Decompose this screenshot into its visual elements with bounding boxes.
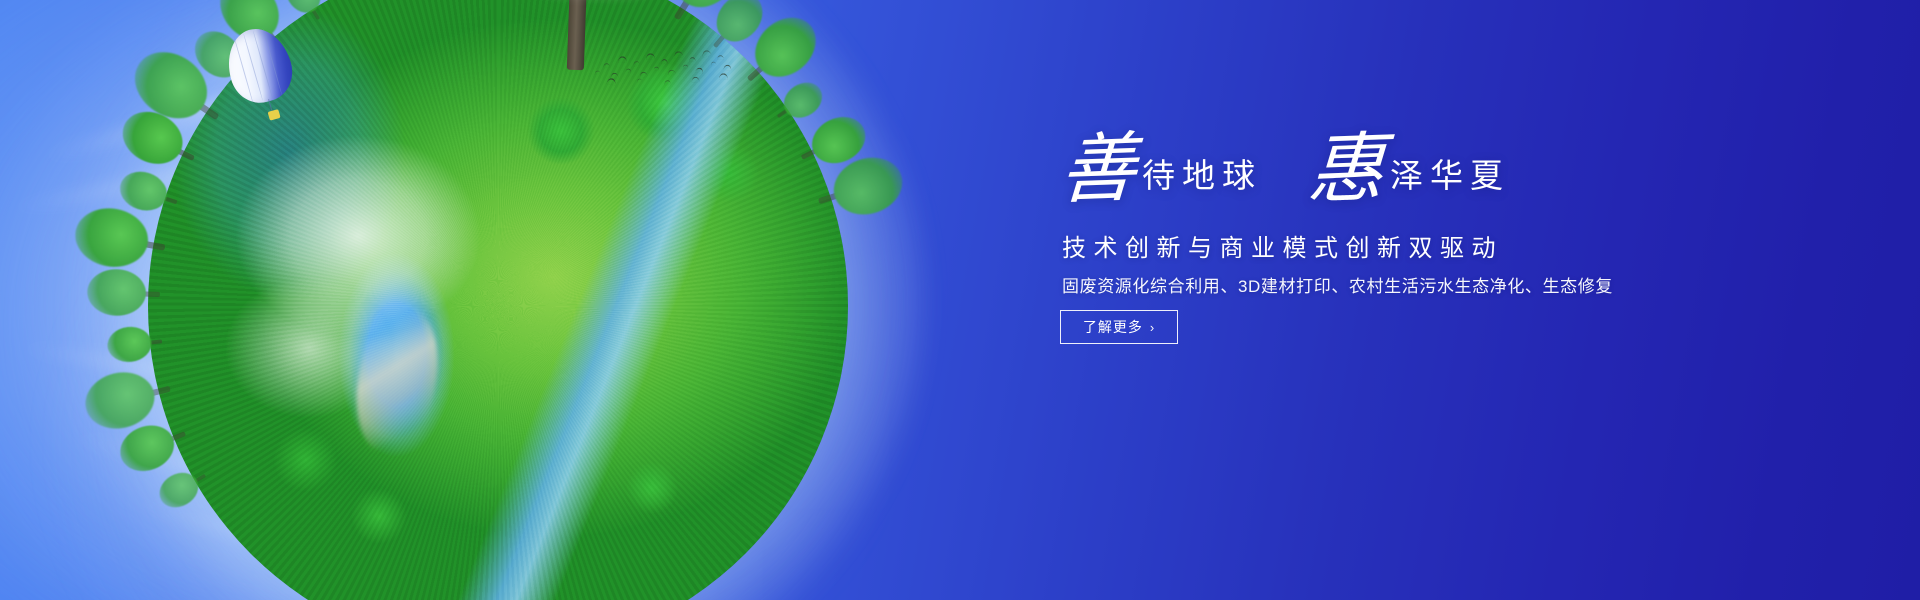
bird-icon [646, 53, 655, 60]
hero-subtitle: 技术创新与商业模式创新双驱动 [1062, 228, 1503, 263]
bird-icon [626, 68, 632, 73]
bird-icon [664, 80, 671, 86]
hero-copy: 善 待地球 惠 泽华夏 技术创新与商业模式创新双驱动 固废资源化综合利用、3D建… [1060, 0, 1680, 600]
rim-tree-icon [98, 324, 164, 365]
bird-icon [695, 67, 704, 74]
bird-icon [711, 61, 717, 65]
rim-tree-icon [77, 268, 161, 317]
headline-rest-2: 泽华夏 [1390, 149, 1510, 206]
headline-lead-char-2: 惠 [1306, 133, 1386, 208]
hero-tagline: 固废资源化综合利用、3D建材打印、农村生活污水生态净化、生态修复 [1062, 272, 1613, 297]
chevron-right-icon: › [1150, 320, 1155, 335]
bird-icon [654, 66, 659, 70]
bird-icon [594, 70, 600, 75]
learn-more-label: 了解更多 [1083, 317, 1143, 337]
bird-icon [701, 49, 711, 57]
balloon-basket [268, 109, 281, 121]
bird-icon [661, 59, 668, 65]
bird-icon [723, 64, 731, 70]
headline-rest-1: 待地球 [1142, 149, 1262, 206]
hero-banner: 善 待地球 惠 泽华夏 技术创新与商业模式创新双驱动 固废资源化综合利用、3D建… [0, 0, 1920, 600]
headline-lead-char-1: 善 [1058, 133, 1138, 208]
bird-icon [639, 71, 647, 78]
bird-icon [692, 77, 700, 83]
rim-tree-crown [87, 268, 147, 316]
bird-icon [618, 56, 627, 63]
bird-icon [719, 73, 728, 80]
page-title: 善 待地球 惠 泽华夏 [1060, 134, 1510, 206]
bird-icon [674, 51, 684, 59]
rim-tree-crown [71, 203, 153, 273]
bird-icon [636, 78, 642, 83]
bird-icon [689, 57, 696, 62]
bird-icon [606, 78, 616, 86]
bird-icon [633, 60, 640, 66]
tree-trunk [567, 0, 588, 70]
bird-icon [603, 63, 610, 69]
birds-icon [592, 48, 732, 92]
rim-tree-crown [106, 325, 153, 364]
bird-icon [683, 65, 688, 69]
bird-icon [667, 69, 676, 76]
bird-icon [717, 55, 724, 60]
learn-more-button[interactable]: 了解更多 › [1060, 310, 1178, 344]
